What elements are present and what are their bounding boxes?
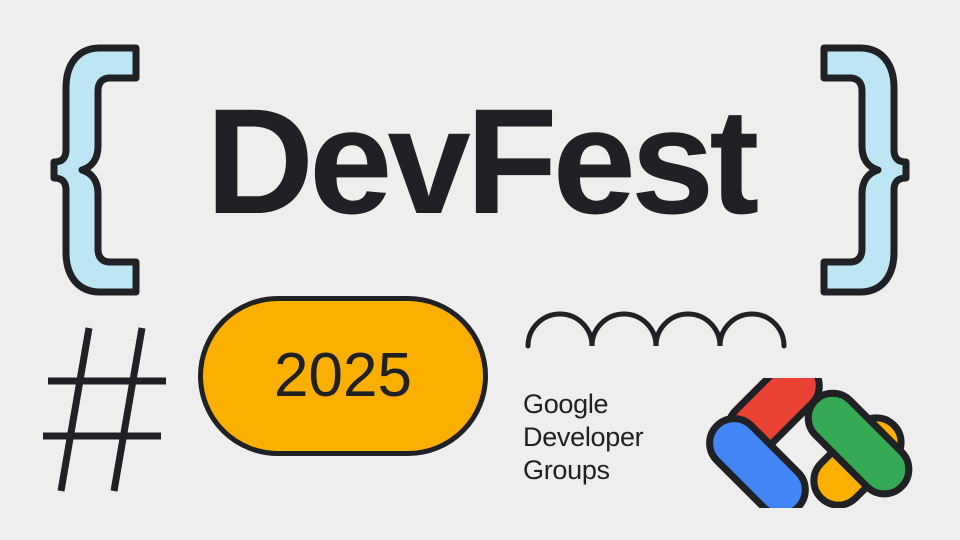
gdg-wordmark: Google Developer Groups [523,388,643,487]
year-badge-label: 2025 [274,345,412,407]
devfest-poster: DevFest 2025 Google Developer Groups [0,0,960,540]
gdg-wordmark-line-1: Google [523,388,643,421]
scallop-arcs-icon [524,296,788,355]
gdg-wordmark-line-3: Groups [523,454,643,487]
year-badge: 2025 [198,296,488,456]
hash-mark-icon [42,322,172,502]
devfest-wordmark: DevFest [0,86,960,236]
gdg-chevrons-logo-icon [700,378,915,513]
gdg-wordmark-line-2: Developer [523,421,643,454]
gdg-lockup: Google Developer Groups [523,388,643,487]
